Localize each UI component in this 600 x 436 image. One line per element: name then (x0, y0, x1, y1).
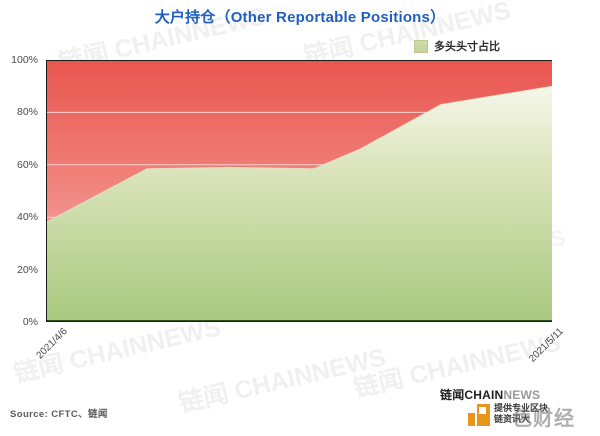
stacked-area-chart (46, 60, 552, 322)
x-axis-tick: 2021/4/6 (25, 326, 70, 371)
y-axis-tick: 100% (11, 54, 38, 66)
y-axis-tick: 20% (17, 264, 38, 276)
chart-legend: 多头头寸占比 (414, 38, 500, 54)
brand-name-en-light: NEWS (503, 388, 540, 402)
brand-block: 链闻CHAINNEWS 提供专业区块 链资讯大 色财经 (440, 386, 540, 403)
logo-shape-notch (479, 407, 486, 414)
brand-name-en-bold: CHAIN (464, 388, 503, 402)
y-axis-tick: 80% (17, 106, 38, 118)
y-axis: 100% 80% 60% 40% 20% 0% (0, 60, 42, 322)
legend-label-long: 多头头寸占比 (434, 38, 500, 54)
logo-overlay-text: 色财经 (512, 402, 575, 431)
partner-logo: 提供专业区块 链资讯大 色财经 (468, 402, 580, 428)
y-axis-tick: 40% (17, 211, 38, 223)
chart-title: 大户持仓（Other Reportable Positions） (0, 6, 600, 27)
brand-name: 链闻CHAINNEWS (440, 386, 540, 403)
x-axis-tick: 2021/5/11 (517, 326, 566, 375)
plot-area (46, 60, 552, 322)
brand-name-cn: 链闻 (440, 388, 464, 402)
logo-shape-left (468, 413, 475, 426)
x-axis: 2021/4/6 2021/5/11 (0, 322, 600, 362)
source-note: Source: CFTC、链闻 (10, 406, 108, 420)
logo-mark-icon (468, 404, 490, 426)
legend-swatch-long (414, 40, 428, 53)
y-axis-tick: 60% (17, 159, 38, 171)
